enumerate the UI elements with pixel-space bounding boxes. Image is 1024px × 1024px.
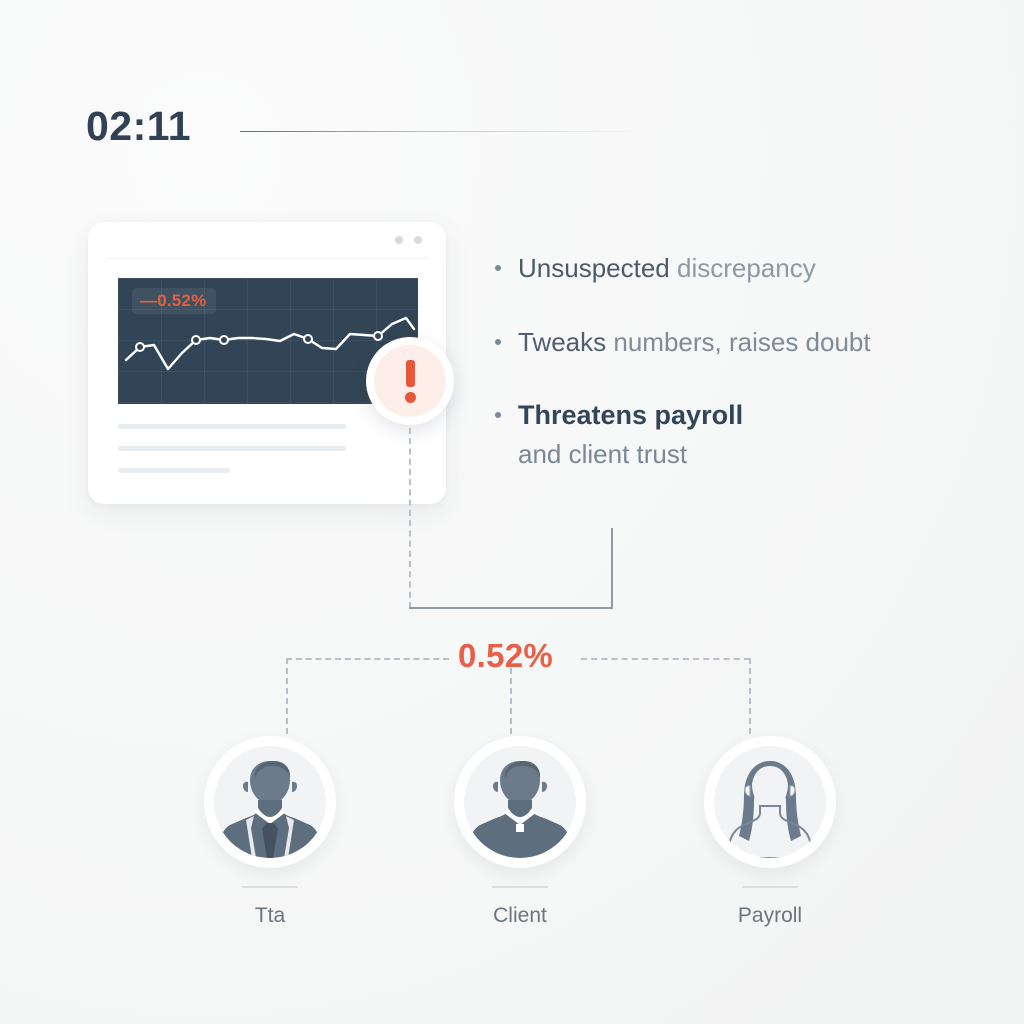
avatar-underline [242, 886, 298, 888]
bullet-text-1: Unsuspected discrepancy [518, 252, 990, 285]
card-header [88, 222, 446, 258]
bullet-dot-icon [495, 412, 501, 418]
avatar-cell-payroll[interactable]: Payroll [690, 736, 850, 928]
avatar-label-tta: Tta [255, 904, 285, 928]
delta-badge: —0.52% [132, 288, 216, 314]
connector-dashed-from-alert [409, 428, 411, 608]
connector-bracket-horizontal [409, 607, 613, 609]
avatar-label-payroll: Payroll [738, 904, 802, 928]
exclamation-bar [406, 360, 415, 387]
bullet-dot-icon [495, 339, 501, 345]
avatar-ring [454, 736, 586, 868]
person-suit-tie-icon [214, 746, 326, 858]
tree-drop-left [286, 658, 288, 734]
person-collar-icon [464, 746, 576, 858]
avatar-underline [492, 886, 548, 888]
bullet-item-1: Unsuspected discrepancy [490, 252, 990, 285]
bullet-list: Unsuspected discrepancy Tweaks numbers, … [490, 252, 990, 470]
bullet-lead-2: Tweaks [518, 327, 613, 357]
alert-badge[interactable] [366, 337, 454, 425]
bullet-tail-1: discrepancy [677, 253, 816, 283]
impact-percent-label: 0.52% [458, 637, 553, 675]
avatar-cell-tta[interactable]: Tta [190, 736, 350, 928]
skeleton-line-3 [118, 468, 230, 473]
window-dots [395, 236, 422, 244]
bullet-dot-icon [495, 265, 501, 271]
bullet-lead-1: Unsuspected [518, 253, 677, 283]
timestamp-label: 02:11 [86, 103, 191, 150]
header-divider [240, 131, 645, 132]
window-dot-1-icon [395, 236, 403, 244]
bullet-tail-2: numbers, raises doubt [613, 327, 870, 357]
tree-connector-right [581, 658, 750, 660]
chart-markers [136, 332, 382, 351]
exclamation-dot [405, 392, 416, 403]
tree-drop-right [749, 658, 751, 734]
window-dot-2-icon [414, 236, 422, 244]
connector-bracket-vertical [611, 528, 613, 608]
avatar-ring [204, 736, 336, 868]
infographic-canvas: 02:11 —0.52% [0, 0, 1024, 1024]
person-long-hair-icon [714, 746, 826, 858]
bullet-tail-3: and client trust [518, 438, 990, 471]
skeleton-line-1 [118, 424, 346, 429]
bullet-item-3: Threatens payroll and client trust [490, 399, 990, 470]
avatar-row: Tta Client [190, 736, 850, 928]
tree-connector-left [286, 658, 449, 660]
avatar-underline [742, 886, 798, 888]
avatar-ring [704, 736, 836, 868]
bullet-text-2: Tweaks numbers, raises doubt [518, 326, 990, 359]
avatar-label-client: Client [493, 904, 547, 928]
bullet-lead-3: Threatens payroll [518, 399, 990, 433]
card-divider [106, 258, 428, 259]
skeleton-line-2 [118, 446, 346, 451]
avatar-cell-client[interactable]: Client [440, 736, 600, 928]
tree-drop-center [510, 668, 512, 734]
exclamation-icon [374, 345, 446, 417]
bullet-item-2: Tweaks numbers, raises doubt [490, 326, 990, 359]
